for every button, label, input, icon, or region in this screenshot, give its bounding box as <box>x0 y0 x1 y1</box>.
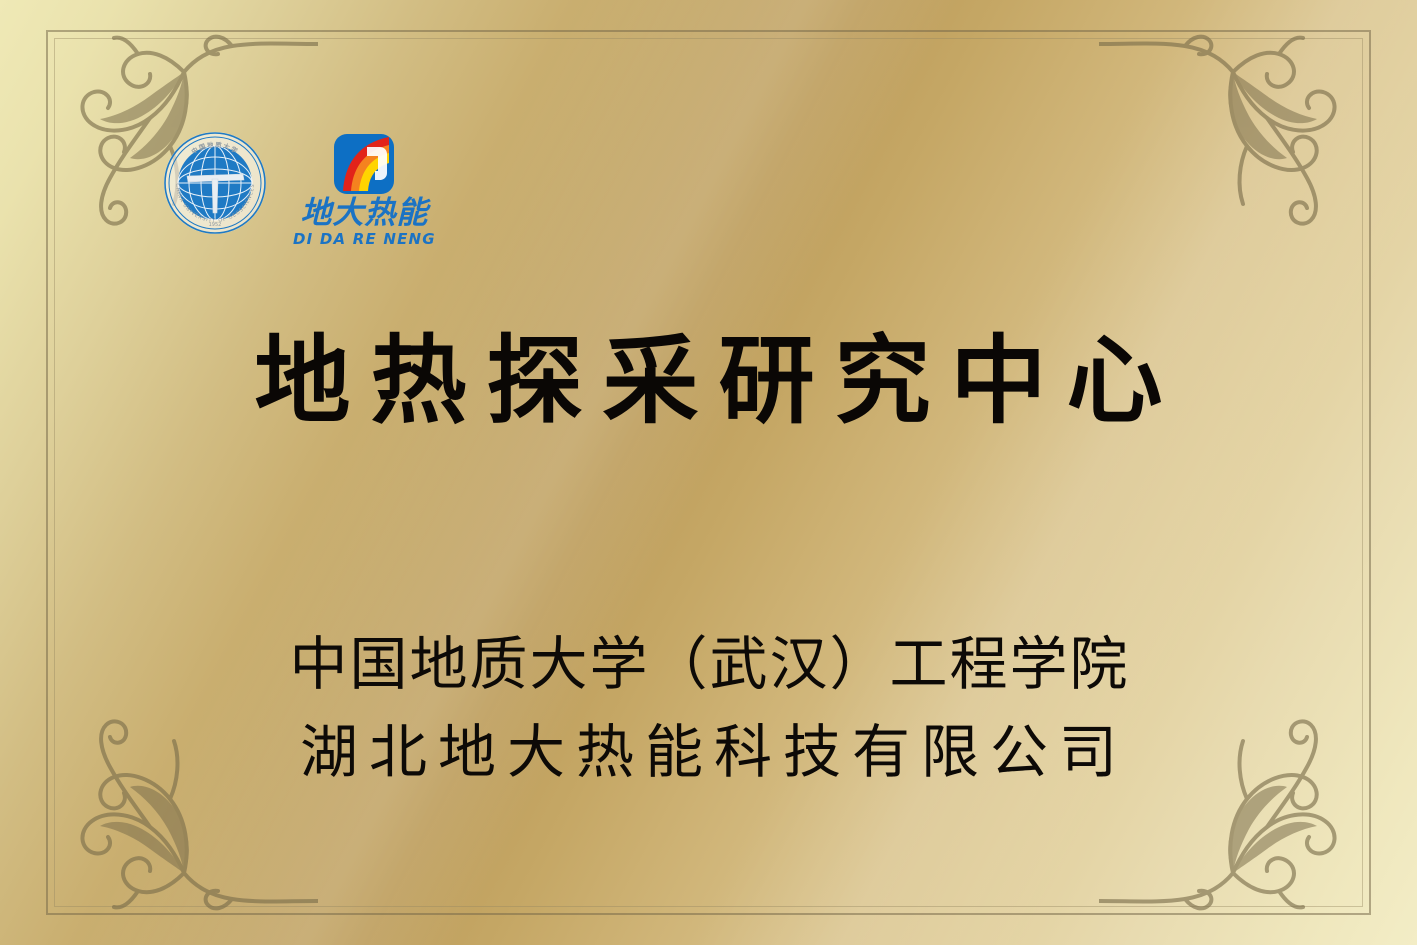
china-university-of-geosciences-seal-icon: 中国地质大学 CHINA UNIVERSITY OF GEOSCIENCES 1… <box>163 131 267 235</box>
svg-text:1952: 1952 <box>209 222 222 228</box>
plaque: 中国地质大学 CHINA UNIVERSITY OF GEOSCIENCES 1… <box>0 0 1417 945</box>
logo-row: 中国地质大学 CHINA UNIVERSITY OF GEOSCIENCES 1… <box>163 131 436 247</box>
rainbow-swoosh-icon <box>333 133 395 195</box>
subtitle-line-2: 湖北地大热能科技有限公司 <box>0 708 1417 796</box>
subtitle-line-1: 中国地质大学（武汉）工程学院 <box>0 620 1417 708</box>
di-da-re-neng-logo: 地大热能 DI DA RE NENG <box>293 133 436 247</box>
brand-name-en: DI DA RE NENG <box>293 231 436 248</box>
corner-filigree-ornament-top-right <box>1099 6 1399 236</box>
plaque-title: 地热探采研究中心 <box>0 328 1417 436</box>
plaque-subtitle: 中国地质大学（武汉）工程学院 湖北地大热能科技有限公司 <box>0 620 1417 796</box>
brand-name-cn: 地大热能 <box>300 197 428 230</box>
